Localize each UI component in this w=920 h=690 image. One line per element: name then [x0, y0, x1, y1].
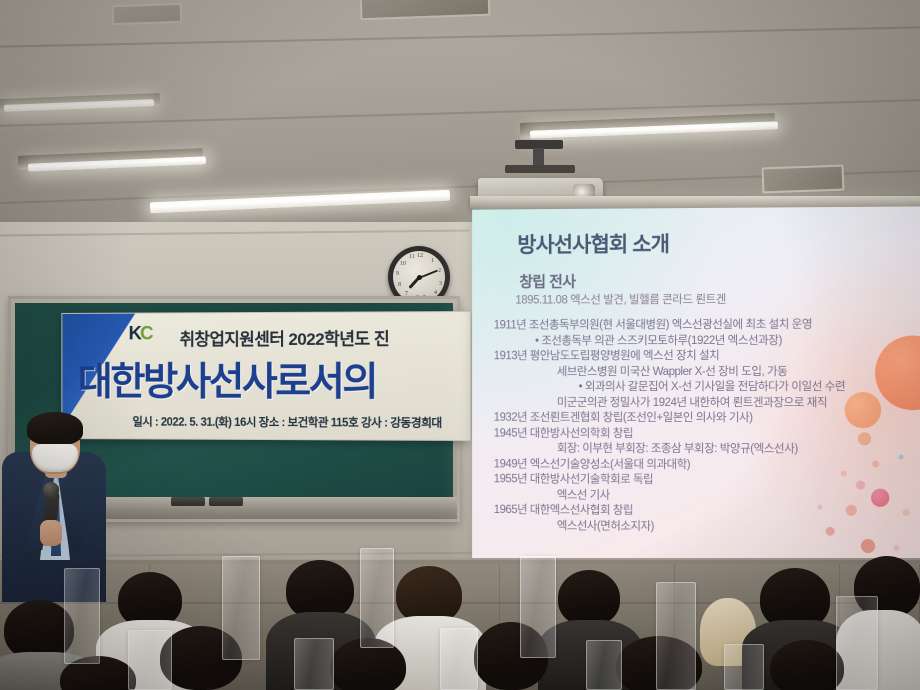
slide-line: 엑스선사(면허소지자) [494, 518, 914, 536]
slide-line: 1965년 대한엑스선사협회 창립 [494, 503, 914, 521]
acrylic-partition [128, 630, 172, 690]
slide-line: 1932년 조선뢴트겐협회 창립(조선인+일본인 의사와 기사) [494, 411, 914, 427]
presenter-hair [27, 412, 83, 445]
slide-line: 1945년 대한방사선의학회 창립 [494, 426, 914, 442]
acrylic-partition [294, 638, 334, 690]
slide-title: 방사선사협회 소개 [517, 228, 669, 259]
organization-logo: KC [129, 323, 152, 345]
slide-line: 세브란스병원 미국산 Wappler X-선 장비 도입, 가동 [494, 364, 914, 380]
acrylic-partition [360, 548, 394, 648]
acrylic-partition [586, 640, 622, 690]
projector-arm [505, 165, 575, 173]
acrylic-partition [656, 582, 696, 690]
acrylic-partition [836, 596, 878, 690]
audience-head [770, 640, 844, 690]
slide-body: 1911년 조선총독부의원(현 서울대병원) 엑스선광선실에 최초 설치 운영•… [494, 317, 914, 536]
ceiling-vent [112, 3, 183, 25]
clock-center-pin [417, 275, 422, 280]
audience-head [558, 570, 620, 626]
slide-line: 1911년 조선총독부의원(현 서울대병원) 엑스선광선실에 최초 설치 운영 [494, 317, 914, 334]
acrylic-partition [64, 568, 100, 664]
slide-line: • 외과의사 갈문집어 X-선 기사일을 전담하다가 이일선 수련 [494, 380, 914, 396]
event-banner: KC 취창업지원센터 2022학년도 진 대한방사선사로서의 일시 : 2022… [61, 311, 471, 441]
banner-title: 대한방사선사로서의 [78, 351, 471, 408]
banner-organizer-line: 취창업지원센터 2022학년도 진 [180, 324, 471, 350]
ceiling-vent [762, 165, 845, 194]
slide-section-heading: 창립 전사 [519, 271, 575, 292]
eraser [209, 497, 243, 506]
slide-line: 회장: 이부현 부회장: 조종삼 부회장: 박양규(엑스선사) [494, 442, 914, 459]
slide-section-sub: 1895.11.08 엑스선 발견, 빌헬름 콘라드 뢴트겐 [515, 291, 726, 308]
decor-bubble [861, 539, 875, 553]
lecture-hall-photo: 12 1 2 3 4 5 6 7 8 9 10 11 [0, 0, 920, 690]
banner-info-line: 일시 : 2022. 5. 31.(화) 16시 장소 : 보건학관 115호 … [132, 414, 470, 431]
slide-line: 1949년 엑스선기술양성소(서울대 의과대학) [494, 457, 914, 474]
ceiling-vent [360, 0, 491, 20]
slide-line: 1955년 대한방사선기술학회로 독립 [494, 472, 914, 489]
microphone-head [43, 482, 59, 498]
slide-line: • 조선총독부 의관 스즈키모토하루(1922년 엑스선과장) [494, 333, 914, 349]
slide-line: 1913년 평안남도도립평양병원에 엑스선 장치 설치 [494, 349, 914, 365]
presenter-hand [40, 520, 62, 546]
logo-letter-c: C [140, 323, 152, 344]
slide-line: 미군군의관 정밀사가 1924년 내한하여 뢴트겐과장으로 재직 [494, 395, 914, 411]
eraser [171, 497, 205, 506]
audience-head [286, 560, 354, 620]
projection-screen: 방사선사협회 소개 창립 전사 1895.11.08 엑스선 발견, 빌헬름 콘… [472, 206, 920, 569]
acrylic-partition [520, 556, 556, 658]
projector-pole [533, 148, 544, 166]
acrylic-partition [724, 644, 764, 690]
presenter-face-mask [32, 444, 78, 472]
decor-bubble [893, 545, 899, 551]
acrylic-partition [222, 556, 260, 660]
acrylic-partition [440, 628, 478, 690]
logo-letter-k: K [129, 323, 140, 344]
